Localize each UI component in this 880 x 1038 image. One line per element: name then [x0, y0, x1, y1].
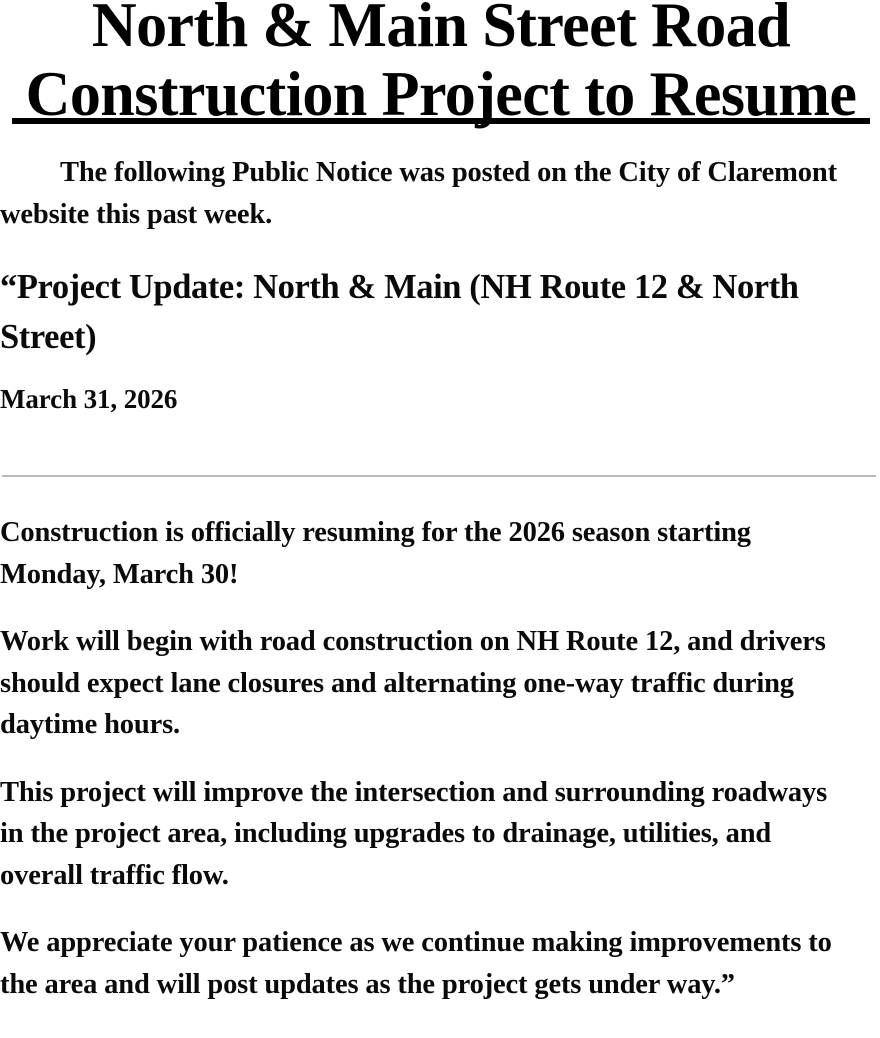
- body-paragraph: We appreciate your patience as we contin…: [0, 922, 856, 1005]
- body-paragraph: Construction is officially resuming for …: [0, 512, 856, 595]
- notice-date: March 31, 2026: [0, 382, 177, 416]
- body-paragraph: Work will begin with road construction o…: [0, 621, 856, 746]
- page-title: North & Main Street Road Construction Pr…: [7, 0, 874, 129]
- notice-heading: “Project Update: North & Main (NH Route …: [0, 262, 880, 362]
- section-divider: [2, 475, 876, 477]
- notice-body: Construction is officially resuming for …: [0, 512, 856, 1005]
- headline-underline: [12, 118, 870, 124]
- headline-line-1: North & Main Street Road: [16, 0, 865, 60]
- article-page: North & Main Street Road Construction Pr…: [0, 0, 880, 1038]
- intro-paragraph: The following Public Notice was posted o…: [0, 152, 852, 235]
- body-paragraph: This project will improve the intersecti…: [0, 772, 856, 897]
